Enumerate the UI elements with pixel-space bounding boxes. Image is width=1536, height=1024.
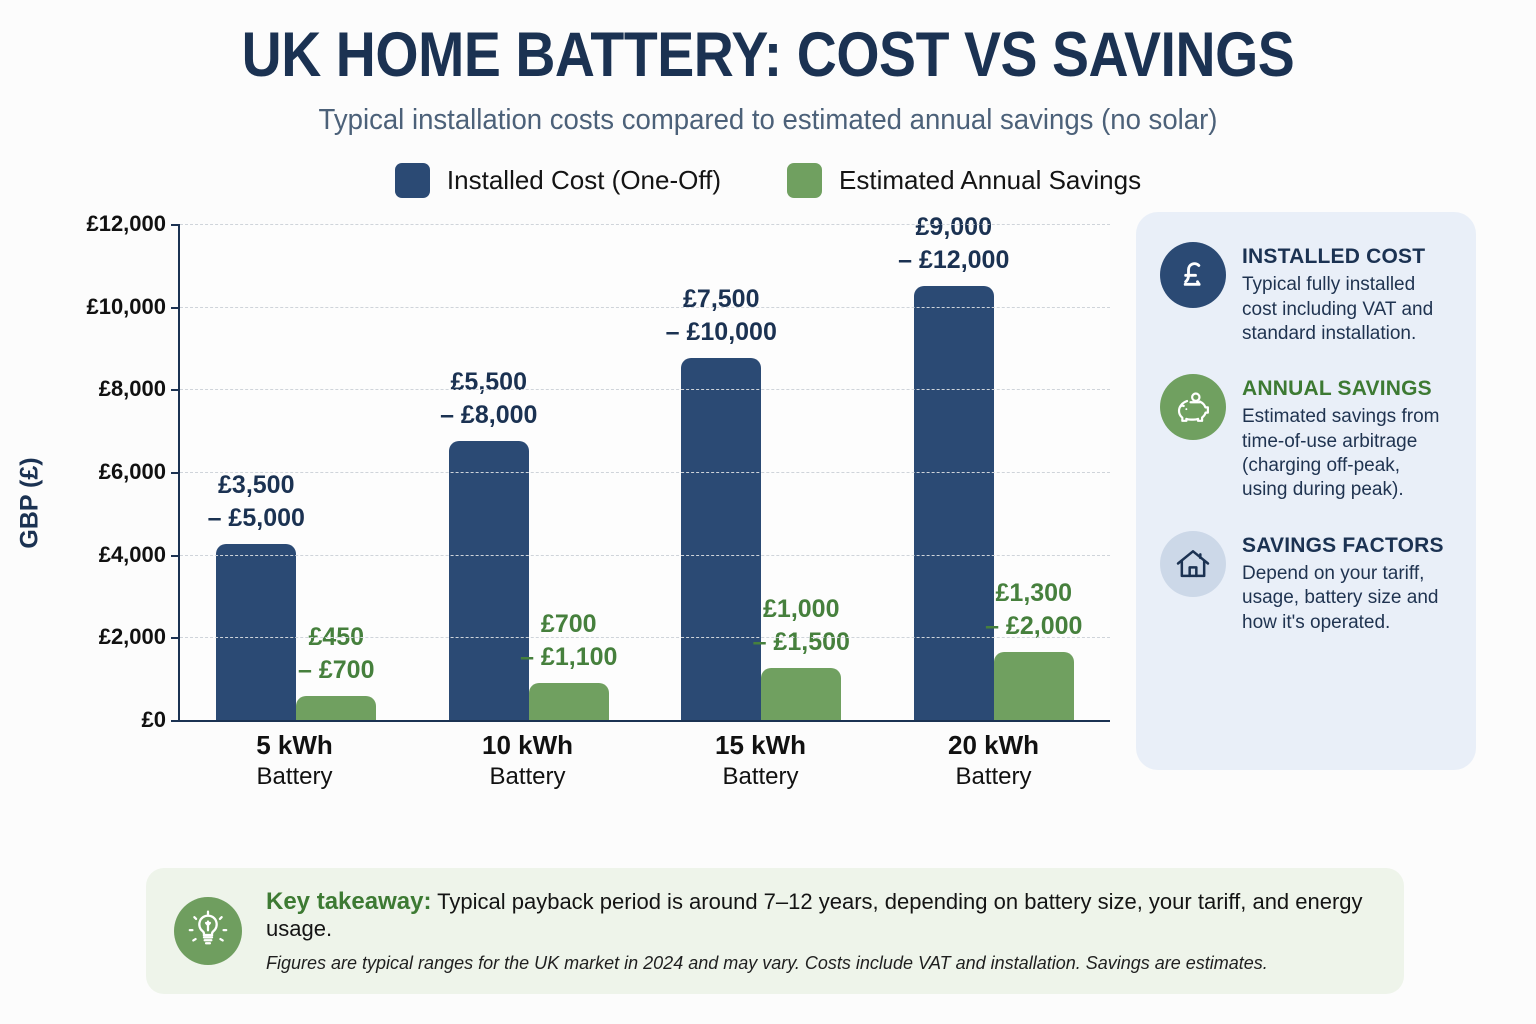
x-axis-category: 15 kWhBattery: [644, 730, 877, 791]
y-axis-tick-mark: [171, 224, 180, 226]
bar-annual-savings[interactable]: £1,000– £1,500: [761, 668, 841, 720]
house-icon: [1160, 531, 1226, 597]
bar-value-line1: £3,500: [208, 469, 305, 502]
side-panel-body: Estimated savings from time-of-use arbit…: [1242, 405, 1450, 502]
bar-value-line2: – £1,100: [520, 641, 617, 674]
gridline: [180, 224, 1110, 225]
y-axis-tick-mark: [171, 472, 180, 474]
bar-value-label: £1,000– £1,500: [753, 593, 850, 659]
page-subtitle: Typical installation costs compared to e…: [38, 104, 1497, 137]
x-axis-category: 10 kWhBattery: [411, 730, 644, 791]
bar-installed-cost[interactable]: £3,500– £5,000: [216, 544, 296, 720]
header: UK HOME BATTERY: COST VS SAVINGS Typical…: [0, 0, 1536, 137]
gridline: [180, 307, 1110, 308]
bar-value-line2: – £700: [298, 654, 374, 687]
y-axis-tick: £12,000: [86, 211, 166, 237]
y-axis-tick: £4,000: [99, 542, 166, 568]
bar-annual-savings[interactable]: £1,300– £2,000: [994, 652, 1074, 720]
main-content: GBP (£) £3,500– £5,000£450– £700£5,500– …: [0, 210, 1536, 795]
x-category-size: 10 kWh: [411, 730, 644, 761]
side-panel-item: ANNUAL SAVINGSEstimated savings from tim…: [1160, 374, 1450, 502]
side-panel-item: SAVINGS FACTORSDepend on your tariff, us…: [1160, 531, 1450, 635]
bar-value-label: £700– £1,100: [520, 608, 617, 674]
takeaway-line: Key takeaway: Typical payback period is …: [266, 888, 1376, 942]
bar-value-line2: – £1,500: [753, 626, 850, 659]
x-category-size: 20 kWh: [877, 730, 1110, 761]
bar-value-label: £3,500– £5,000: [208, 469, 305, 535]
bar-annual-savings[interactable]: £450– £700: [296, 696, 376, 720]
x-axis-category: 5 kWhBattery: [178, 730, 411, 791]
y-axis-tick: £0: [142, 707, 166, 733]
x-category-word: Battery: [877, 763, 1110, 791]
gridline: [180, 637, 1110, 638]
cost-swatch: [395, 163, 430, 198]
side-panel-heading: INSTALLED COST: [1242, 244, 1450, 269]
side-panel-item: INSTALLED COSTTypical fully installed co…: [1160, 242, 1450, 346]
bar-value-line1: £1,000: [753, 593, 850, 626]
y-axis-tick-mark: [171, 720, 180, 722]
bar-value-line1: £7,500: [666, 283, 777, 316]
pound-icon: [1160, 242, 1226, 308]
bar-chart: GBP (£) £3,500– £5,000£450– £700£5,500– …: [0, 210, 1120, 795]
x-category-word: Battery: [411, 763, 644, 791]
bar-value-line2: – £5,000: [208, 502, 305, 535]
lightbulb-icon: [174, 897, 242, 965]
side-panel-text: SAVINGS FACTORSDepend on your tariff, us…: [1242, 531, 1450, 635]
bar-value-line2: – £8,000: [440, 399, 537, 432]
x-category-word: Battery: [178, 763, 411, 791]
y-axis-tick-mark: [171, 389, 180, 391]
bar-installed-cost[interactable]: £9,000– £12,000: [914, 286, 994, 720]
x-category-word: Battery: [644, 763, 877, 791]
bar-installed-cost[interactable]: £7,500– £10,000: [681, 358, 761, 720]
bar-annual-savings[interactable]: £700– £1,100: [529, 683, 609, 720]
bar-installed-cost[interactable]: £5,500– £8,000: [449, 441, 529, 720]
y-axis-label: GBP (£): [16, 457, 45, 548]
y-axis-tick-mark: [171, 307, 180, 309]
takeaway-body: Typical payback period is around 7–12 ye…: [266, 889, 1363, 941]
side-panel-heading: SAVINGS FACTORS: [1242, 533, 1450, 558]
side-panel-body: Typical fully installed cost including V…: [1242, 273, 1450, 346]
x-axis-category: 20 kWhBattery: [877, 730, 1110, 791]
legend-label: Installed Cost (One-Off): [447, 165, 721, 196]
gridline: [180, 472, 1110, 473]
y-axis-tick: £6,000: [99, 459, 166, 485]
bar-value-line2: – £12,000: [898, 244, 1009, 277]
y-axis-tick: £10,000: [86, 294, 166, 320]
legend-label: Estimated Annual Savings: [839, 165, 1141, 196]
savings-swatch: [787, 163, 822, 198]
gridline: [180, 555, 1110, 556]
bar-value-line1: £700: [520, 608, 617, 641]
side-panel-text: ANNUAL SAVINGSEstimated savings from tim…: [1242, 374, 1450, 502]
page-title: UK HOME BATTERY: COST VS SAVINGS: [92, 22, 1444, 88]
x-category-size: 15 kWh: [644, 730, 877, 761]
footer-disclaimer: Figures are typical ranges for the UK ma…: [266, 953, 1376, 974]
footer-text: Key takeaway: Typical payback period is …: [266, 888, 1376, 974]
bar-value-label: £450– £700: [298, 621, 374, 687]
bar-value-label: £5,500– £8,000: [440, 366, 537, 432]
chart-legend: Installed Cost (One-Off)Estimated Annual…: [0, 163, 1536, 198]
bar-value-line1: £5,500: [440, 366, 537, 399]
piggy-bank-icon: [1160, 374, 1226, 440]
side-panel-heading: ANNUAL SAVINGS: [1242, 376, 1450, 401]
bar-value-label: £1,300– £2,000: [985, 577, 1082, 643]
side-panel-body: Depend on your tariff, usage, battery si…: [1242, 562, 1450, 635]
takeaway-keyword: Key takeaway:: [266, 888, 431, 915]
x-axis-labels: 5 kWhBattery10 kWhBattery15 kWhBattery20…: [178, 730, 1110, 791]
bar-value-line1: £9,000: [898, 211, 1009, 244]
x-category-size: 5 kWh: [178, 730, 411, 761]
bar-value-line2: – £10,000: [666, 316, 777, 349]
y-axis-tick-mark: [171, 637, 180, 639]
bar-value-label: £9,000– £12,000: [898, 211, 1009, 277]
plot-area: £3,500– £5,000£450– £700£5,500– £8,000£7…: [178, 224, 1110, 722]
gridline: [180, 389, 1110, 390]
legend-item: Estimated Annual Savings: [787, 163, 1141, 198]
y-axis-tick-mark: [171, 555, 180, 557]
side-panel-text: INSTALLED COSTTypical fully installed co…: [1242, 242, 1450, 346]
bar-value-label: £7,500– £10,000: [666, 283, 777, 349]
bar-value-line1: £1,300: [985, 577, 1082, 610]
y-axis-tick: £8,000: [99, 376, 166, 402]
side-panel: INSTALLED COSTTypical fully installed co…: [1136, 212, 1476, 770]
key-takeaway-panel: Key takeaway: Typical payback period is …: [146, 868, 1404, 994]
legend-item: Installed Cost (One-Off): [395, 163, 721, 198]
y-axis-tick: £2,000: [99, 624, 166, 650]
